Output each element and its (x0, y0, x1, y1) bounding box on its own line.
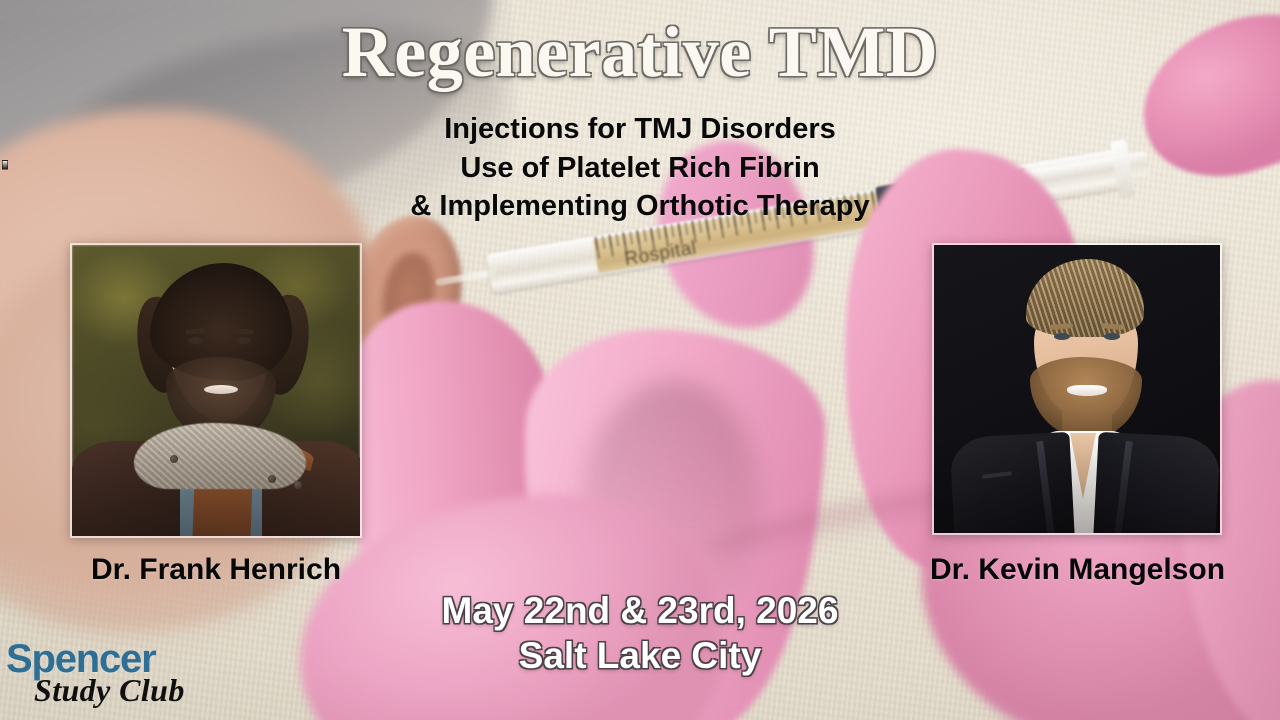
speaker-name-right: Dr. Kevin Mangelson (905, 553, 1250, 587)
event-location: Salt Lake City (335, 633, 945, 678)
spencer-study-club-logo: Spencer Study Club (6, 640, 218, 714)
portrait-shading (72, 245, 360, 536)
logo-secondary-text: Study Club (34, 674, 218, 706)
subtitle-line-1: Injections for TMJ Disorders (0, 110, 1280, 149)
event-flyer: Rospital D AFTER USE Regenerative TMD In… (0, 0, 1280, 720)
subtitle-line-3: & Implementing Orthotic Therapy (0, 187, 1280, 226)
portrait-shading (934, 245, 1220, 533)
page-title: Regenerative TMD (0, 16, 1280, 88)
subtitle-line-2: Use of Platelet Rich Fibrin (0, 149, 1280, 188)
speaker-photo-frank-henrich (70, 243, 362, 538)
speaker-name-left: Dr. Frank Henrich (70, 553, 362, 587)
event-date: May 22nd & 23rd, 2026 (335, 588, 945, 633)
subtitle-block: Injections for TMJ Disorders Use of Plat… (0, 110, 1280, 226)
speaker-photo-kevin-mangelson (932, 243, 1222, 535)
event-details: May 22nd & 23rd, 2026 Salt Lake City (335, 588, 945, 678)
